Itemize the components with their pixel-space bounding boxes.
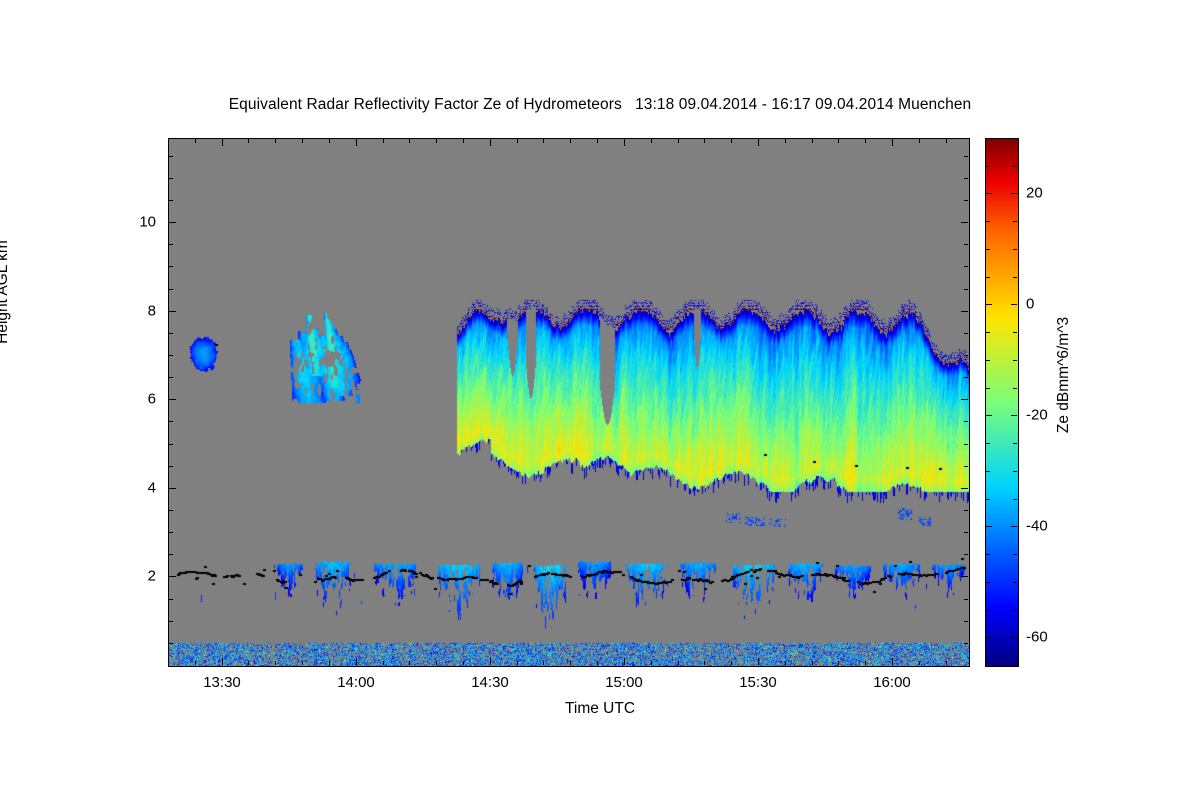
x-minor-tick-top bbox=[409, 139, 410, 143]
colorbar-minor-tick-left bbox=[986, 443, 990, 444]
y-minor-tick bbox=[169, 554, 173, 555]
y-minor-tick-right bbox=[964, 178, 968, 179]
colorbar-minor-tick bbox=[1013, 360, 1017, 361]
y-major-tick-right bbox=[961, 311, 968, 312]
colorbar-gradient bbox=[986, 139, 1018, 666]
y-minor-tick bbox=[169, 510, 173, 511]
y-minor-tick bbox=[169, 200, 173, 201]
colorbar-minor-tick bbox=[1013, 249, 1017, 250]
x-minor-tick bbox=[919, 661, 920, 665]
x-minor-tick-top bbox=[946, 139, 947, 143]
y-minor-tick bbox=[169, 178, 173, 179]
y-major-tick bbox=[169, 576, 176, 577]
y-axis-label: Height AGL km bbox=[0, 182, 12, 402]
colorbar-tick-label: 0 bbox=[1026, 296, 1034, 313]
x-minor-tick-top bbox=[785, 139, 786, 143]
y-minor-tick-right bbox=[964, 510, 968, 511]
colorbar-minor-tick bbox=[1013, 332, 1017, 333]
x-tick-label: 15:00 bbox=[584, 674, 664, 691]
x-major-tick bbox=[356, 658, 357, 665]
x-tick-label: 16:00 bbox=[852, 674, 932, 691]
y-major-tick-right bbox=[961, 488, 968, 489]
x-minor-tick-top bbox=[517, 139, 518, 143]
y-tick-label: 2 bbox=[116, 568, 156, 585]
x-major-tick-top bbox=[758, 139, 759, 146]
y-minor-tick bbox=[169, 532, 173, 533]
x-minor-tick bbox=[302, 661, 303, 665]
colorbar-minor-tick bbox=[1013, 471, 1017, 472]
colorbar-minor-tick-left bbox=[986, 610, 990, 611]
x-minor-tick-top bbox=[651, 139, 652, 143]
colorbar-minor-tick bbox=[1013, 582, 1017, 583]
x-minor-tick bbox=[463, 661, 464, 665]
y-minor-tick-right bbox=[964, 554, 968, 555]
y-minor-tick bbox=[169, 621, 173, 622]
y-minor-tick-right bbox=[964, 333, 968, 334]
y-minor-tick-right bbox=[964, 621, 968, 622]
x-minor-tick bbox=[865, 661, 866, 665]
y-minor-tick-right bbox=[964, 532, 968, 533]
colorbar-minor-tick-left bbox=[986, 221, 990, 222]
colorbar-tick-left bbox=[986, 304, 992, 305]
colorbar-tick-label: -40 bbox=[1026, 518, 1048, 535]
x-minor-tick bbox=[597, 661, 598, 665]
x-minor-tick-top bbox=[329, 139, 330, 143]
y-minor-tick bbox=[169, 599, 173, 600]
x-minor-tick-top bbox=[570, 139, 571, 143]
y-major-tick-right bbox=[961, 399, 968, 400]
y-tick-label: 4 bbox=[116, 480, 156, 497]
colorbar-minor-tick bbox=[1013, 499, 1017, 500]
x-major-tick bbox=[490, 658, 491, 665]
colorbar-minor-tick-left bbox=[986, 249, 990, 250]
colorbar-minor-tick-left bbox=[986, 332, 990, 333]
x-minor-tick bbox=[195, 661, 196, 665]
y-minor-tick bbox=[169, 289, 173, 290]
x-minor-tick bbox=[436, 661, 437, 665]
x-minor-tick bbox=[785, 661, 786, 665]
x-minor-tick-top bbox=[463, 139, 464, 143]
y-major-tick bbox=[169, 222, 176, 223]
colorbar-minor-tick bbox=[1013, 610, 1017, 611]
colorbar-tick bbox=[1011, 304, 1017, 305]
y-minor-tick-right bbox=[964, 466, 968, 467]
x-minor-tick bbox=[678, 661, 679, 665]
colorbar-minor-tick-left bbox=[986, 499, 990, 500]
x-minor-tick-top bbox=[436, 139, 437, 143]
colorbar-tick-label: -60 bbox=[1026, 629, 1048, 646]
y-minor-tick bbox=[169, 333, 173, 334]
colorbar-minor-tick bbox=[1013, 443, 1017, 444]
colorbar-minor-tick bbox=[1013, 221, 1017, 222]
x-axis-label: Time UTC bbox=[0, 700, 1200, 718]
x-minor-tick-top bbox=[383, 139, 384, 143]
x-minor-tick-top bbox=[195, 139, 196, 143]
x-major-tick-top bbox=[356, 139, 357, 146]
colorbar-minor-tick-left bbox=[986, 554, 990, 555]
x-major-tick-top bbox=[222, 139, 223, 146]
x-minor-tick-top bbox=[704, 139, 705, 143]
colorbar-tick bbox=[1011, 637, 1017, 638]
x-minor-tick-top bbox=[865, 139, 866, 143]
colorbar-minor-tick-left bbox=[986, 166, 990, 167]
x-minor-tick bbox=[946, 661, 947, 665]
y-minor-tick-right bbox=[964, 156, 968, 157]
x-minor-tick-top bbox=[731, 139, 732, 143]
y-minor-tick bbox=[169, 355, 173, 356]
x-minor-tick-top bbox=[919, 139, 920, 143]
colorbar-tick bbox=[1011, 415, 1017, 416]
x-major-tick-top bbox=[490, 139, 491, 146]
x-minor-tick bbox=[731, 661, 732, 665]
y-tick-label: 8 bbox=[116, 303, 156, 320]
x-minor-tick bbox=[275, 661, 276, 665]
colorbar-minor-tick-left bbox=[986, 388, 990, 389]
x-major-tick-top bbox=[892, 139, 893, 146]
colorbar-minor-tick-left bbox=[986, 582, 990, 583]
x-minor-tick-top bbox=[597, 139, 598, 143]
y-minor-tick-right bbox=[964, 421, 968, 422]
colorbar-minor-tick bbox=[1013, 388, 1017, 389]
colorbar-label: Ze dBmm^6/m^3 bbox=[1055, 225, 1073, 525]
y-major-tick-right bbox=[961, 222, 968, 223]
radar-reflectivity-figure: Equivalent Radar Reflectivity Factor Ze … bbox=[0, 0, 1200, 800]
colorbar-tick-label: 20 bbox=[1026, 185, 1043, 202]
y-minor-tick bbox=[169, 156, 173, 157]
x-minor-tick-top bbox=[838, 139, 839, 143]
y-minor-tick bbox=[169, 466, 173, 467]
colorbar-minor-tick-left bbox=[986, 277, 990, 278]
y-minor-tick bbox=[169, 244, 173, 245]
x-major-tick bbox=[222, 658, 223, 665]
colorbar-tick bbox=[1011, 526, 1017, 527]
x-minor-tick-top bbox=[812, 139, 813, 143]
y-minor-tick-right bbox=[964, 599, 968, 600]
x-minor-tick bbox=[838, 661, 839, 665]
x-minor-tick bbox=[409, 661, 410, 665]
y-tick-label: 10 bbox=[116, 214, 156, 231]
x-minor-tick-top bbox=[543, 139, 544, 143]
x-major-tick bbox=[624, 658, 625, 665]
reflectivity-heatmap bbox=[169, 139, 969, 666]
y-minor-tick-right bbox=[964, 444, 968, 445]
x-minor-tick-top bbox=[302, 139, 303, 143]
y-minor-tick bbox=[169, 421, 173, 422]
y-major-tick-right bbox=[961, 576, 968, 577]
x-tick-label: 13:30 bbox=[182, 674, 262, 691]
colorbar-minor-tick-left bbox=[986, 471, 990, 472]
colorbar-minor-tick bbox=[1013, 277, 1017, 278]
colorbar-tick-left bbox=[986, 637, 992, 638]
chart-title: Equivalent Radar Reflectivity Factor Ze … bbox=[0, 96, 1200, 114]
x-minor-tick bbox=[517, 661, 518, 665]
colorbar-tick-label: -20 bbox=[1026, 407, 1048, 424]
colorbar bbox=[985, 138, 1019, 667]
y-minor-tick-right bbox=[964, 266, 968, 267]
colorbar-minor-tick bbox=[1013, 166, 1017, 167]
y-minor-tick bbox=[169, 643, 173, 644]
y-minor-tick-right bbox=[964, 643, 968, 644]
x-major-tick bbox=[892, 658, 893, 665]
colorbar-minor-tick-left bbox=[986, 360, 990, 361]
y-minor-tick bbox=[169, 377, 173, 378]
x-tick-label: 15:30 bbox=[718, 674, 798, 691]
x-minor-tick bbox=[570, 661, 571, 665]
colorbar-minor-tick bbox=[1013, 554, 1017, 555]
plot-area bbox=[168, 138, 970, 667]
y-tick-label: 6 bbox=[116, 391, 156, 408]
x-minor-tick-top bbox=[275, 139, 276, 143]
y-minor-tick-right bbox=[964, 355, 968, 356]
x-tick-label: 14:00 bbox=[316, 674, 396, 691]
y-minor-tick bbox=[169, 266, 173, 267]
colorbar-tick-left bbox=[986, 193, 992, 194]
y-minor-tick bbox=[169, 444, 173, 445]
x-minor-tick bbox=[329, 661, 330, 665]
x-minor-tick bbox=[543, 661, 544, 665]
x-minor-tick-top bbox=[678, 139, 679, 143]
y-major-tick bbox=[169, 399, 176, 400]
y-major-tick bbox=[169, 488, 176, 489]
x-minor-tick bbox=[651, 661, 652, 665]
y-minor-tick-right bbox=[964, 377, 968, 378]
y-major-tick bbox=[169, 311, 176, 312]
y-minor-tick-right bbox=[964, 244, 968, 245]
y-minor-tick-right bbox=[964, 289, 968, 290]
x-minor-tick bbox=[383, 661, 384, 665]
x-minor-tick bbox=[812, 661, 813, 665]
x-minor-tick bbox=[248, 661, 249, 665]
colorbar-tick-left bbox=[986, 415, 992, 416]
x-tick-label: 14:30 bbox=[450, 674, 530, 691]
x-major-tick-top bbox=[624, 139, 625, 146]
x-minor-tick bbox=[704, 661, 705, 665]
colorbar-tick-left bbox=[986, 526, 992, 527]
x-major-tick bbox=[758, 658, 759, 665]
x-minor-tick-top bbox=[248, 139, 249, 143]
colorbar-tick bbox=[1011, 193, 1017, 194]
y-minor-tick-right bbox=[964, 200, 968, 201]
